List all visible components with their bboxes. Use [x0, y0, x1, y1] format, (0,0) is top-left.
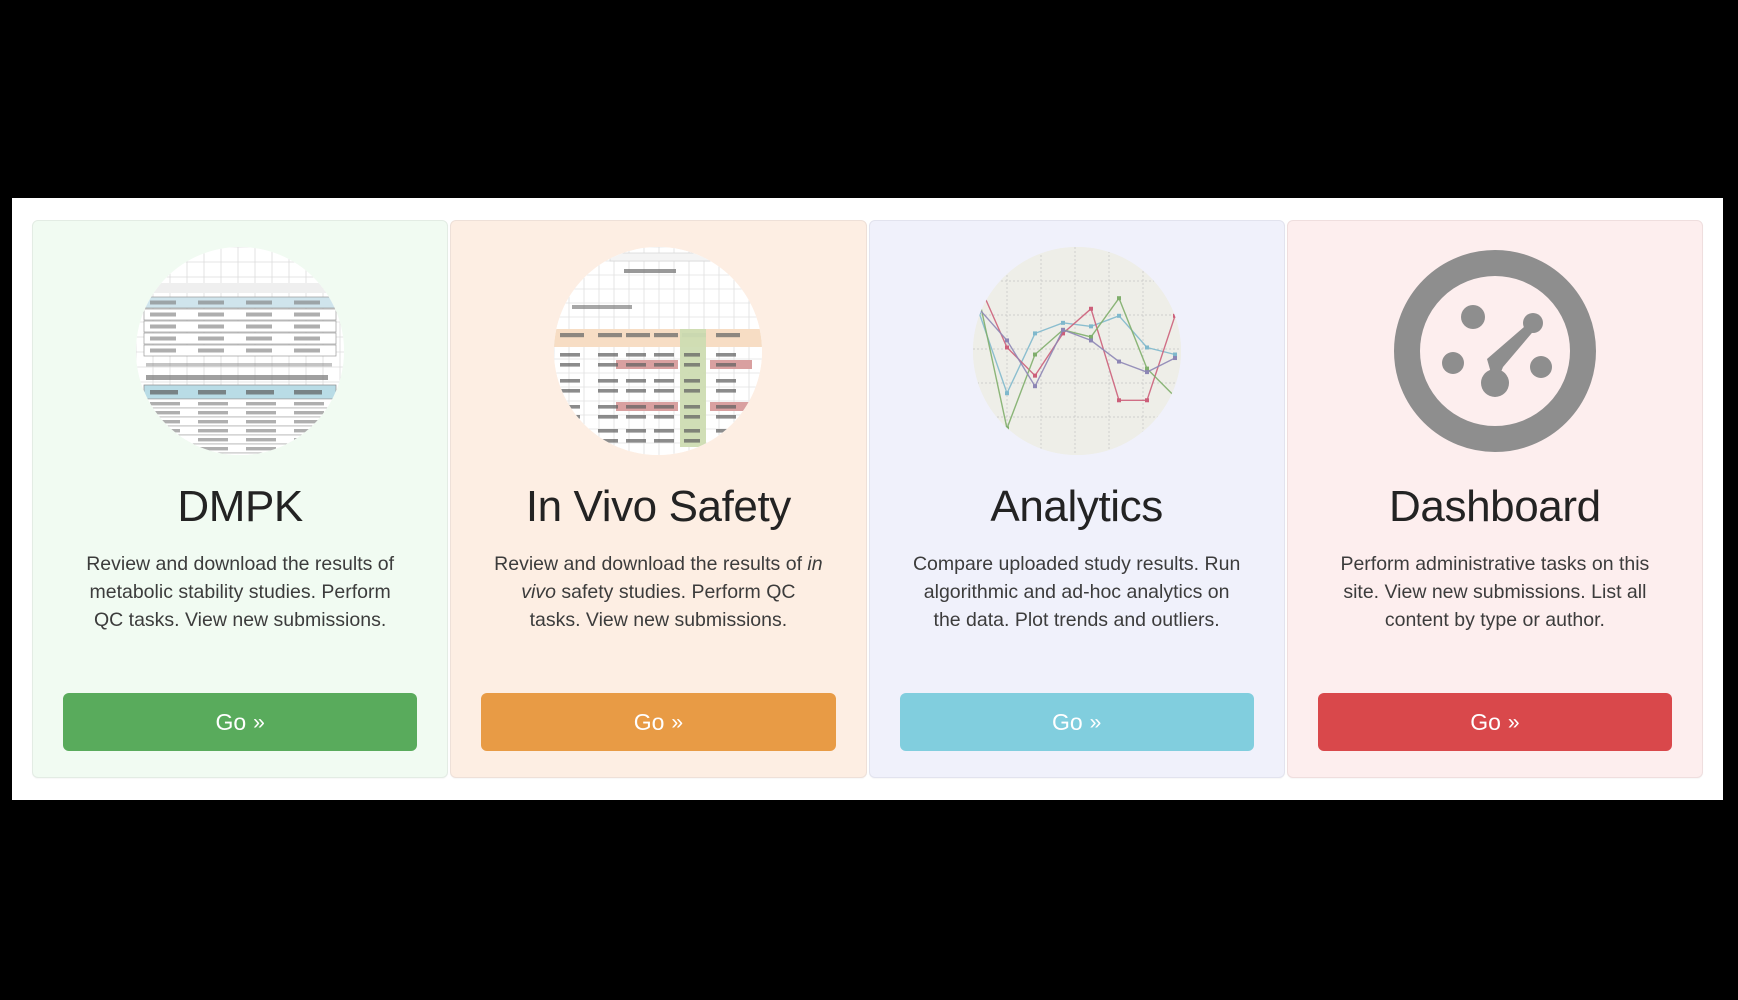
- go-button-label: Go: [215, 711, 246, 734]
- go-button-in-vivo-safety[interactable]: Go»: [481, 693, 835, 751]
- card-description: Perform administrative tasks on this sit…: [1330, 551, 1660, 634]
- double-chevron-right-icon: »: [1090, 712, 1102, 733]
- go-button-label: Go: [634, 711, 665, 734]
- feature-card-dmpk[interactable]: DMPKReview and download the results of m…: [32, 220, 448, 778]
- go-button-label: Go: [1052, 711, 1083, 734]
- card-description: Compare uploaded study results. Run algo…: [912, 551, 1242, 634]
- double-chevron-right-icon: »: [671, 712, 683, 733]
- feature-card-in-vivo-safety[interactable]: In Vivo SafetyReview and download the re…: [450, 220, 866, 778]
- card-description: Review and download the results of in vi…: [493, 551, 823, 634]
- dashboard-gauge-icon: [1391, 247, 1599, 455]
- description-text: Compare uploaded study results. Run algo…: [913, 553, 1240, 630]
- double-chevron-right-icon: »: [253, 712, 265, 733]
- card-title: Analytics: [990, 483, 1162, 531]
- screenshot-viewport: DMPKReview and download the results of m…: [0, 0, 1738, 1000]
- analytics-line-chart-thumbnail: [973, 247, 1181, 455]
- browser-page: DMPKReview and download the results of m…: [12, 198, 1723, 800]
- double-chevron-right-icon: »: [1508, 712, 1520, 733]
- description-text: Perform administrative tasks on this sit…: [1340, 553, 1649, 630]
- dmpk-spreadsheet-thumbnail: [136, 247, 344, 455]
- go-button-dmpk[interactable]: Go»: [63, 693, 417, 751]
- go-button-dashboard[interactable]: Go»: [1318, 693, 1672, 751]
- card-description: Review and download the results of metab…: [75, 551, 405, 634]
- feature-card-row: DMPKReview and download the results of m…: [32, 220, 1703, 778]
- card-title: DMPK: [177, 483, 303, 531]
- card-title: Dashboard: [1389, 483, 1601, 531]
- description-text: Review and download the results of metab…: [86, 553, 394, 630]
- in-vivo-spreadsheet-thumbnail: [554, 247, 762, 455]
- description-text-lead: Review and download the results of: [494, 553, 807, 575]
- feature-card-dashboard[interactable]: DashboardPerform administrative tasks on…: [1287, 220, 1703, 778]
- feature-card-analytics[interactable]: AnalyticsCompare uploaded study results.…: [869, 220, 1285, 778]
- card-title: In Vivo Safety: [526, 483, 791, 531]
- go-button-analytics[interactable]: Go»: [900, 693, 1254, 751]
- go-button-label: Go: [1470, 711, 1501, 734]
- description-text-tail: safety studies. Perform QC tasks. View n…: [530, 581, 796, 631]
